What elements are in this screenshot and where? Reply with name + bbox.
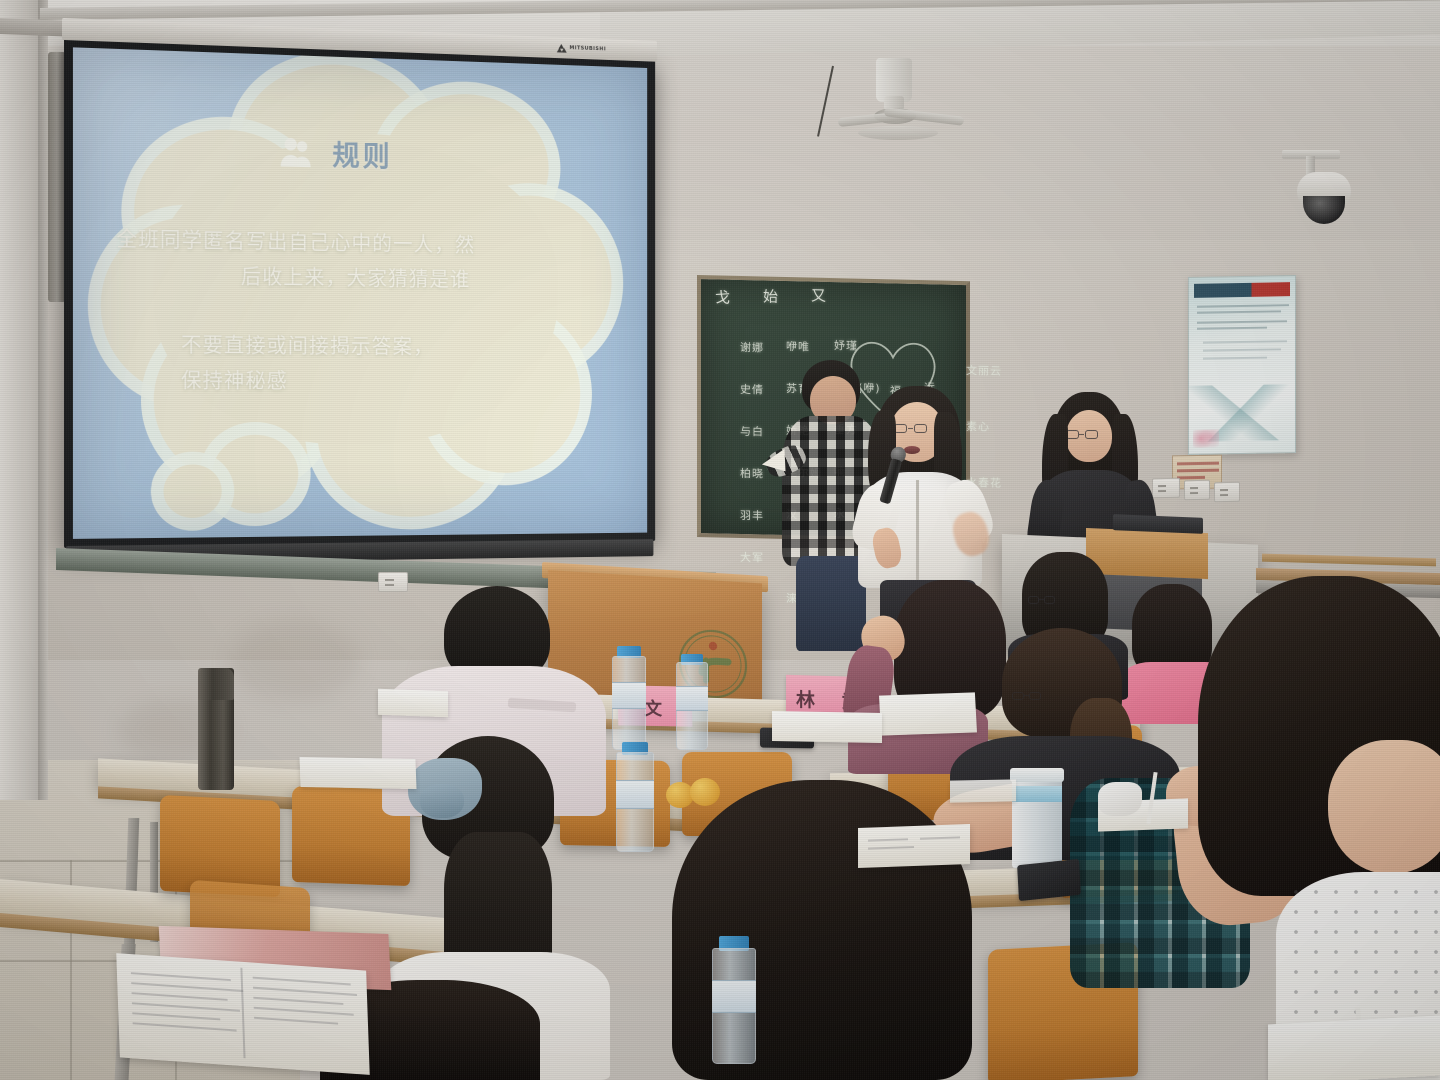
worksheet-paper: [879, 692, 977, 735]
student-white-eyelet: [1180, 576, 1440, 1080]
wall-stain: [230, 620, 360, 700]
orange-fruit: [690, 778, 720, 806]
neck-and-ear: [1328, 740, 1440, 874]
slide-canvas: 规则 全班同学匿名写出自己心中的一人，然 后收上来，大家猜猜是谁 不要直接或间接…: [73, 47, 647, 539]
mitsubishi-brand-text: MITSUBISHI: [569, 45, 606, 52]
eyeglasses-icon: [1028, 596, 1062, 606]
eyeglasses-icon: [1066, 430, 1112, 442]
poster-flower-art: [1193, 429, 1219, 447]
water-bottle[interactable]: [616, 742, 654, 852]
wall-power-socket[interactable]: [1184, 480, 1210, 500]
water-bottle[interactable]: [712, 936, 756, 1064]
water-bottle[interactable]: [612, 646, 646, 750]
people-icon: [279, 135, 315, 169]
wall-poster: [1188, 275, 1296, 455]
ceiling-fan-blade: [858, 126, 938, 140]
worksheet-paper: [772, 711, 882, 743]
chalk-heading-3: 又: [811, 288, 827, 306]
wall-power-socket[interactable]: [1214, 482, 1240, 502]
water-bottle[interactable]: [676, 654, 708, 750]
worksheet-paper: [950, 779, 1016, 802]
slide-body-line-3: 不要直接或间接揭示答案，: [181, 330, 610, 363]
thermos-flask[interactable]: [198, 668, 234, 790]
mitsubishi-logo: MITSUBISHI: [557, 40, 638, 58]
slide-body-line-2: 后收上来，大家猜猜是谁: [116, 260, 586, 296]
chalk-heading-1: 戈: [715, 289, 731, 307]
projection-screen[interactable]: MITSUBISHI: [64, 38, 655, 548]
mitsubishi-mark-icon: [557, 43, 567, 52]
eyeglasses-icon: [1012, 692, 1048, 702]
tissue: [1098, 782, 1142, 816]
wall-pillar-edge: [38, 0, 48, 800]
notebook-page: [1268, 1015, 1440, 1080]
worksheet-paper: [378, 689, 448, 717]
open-book[interactable]: [858, 824, 970, 868]
classroom-photo: MITSUBISHI: [0, 0, 1440, 1080]
chalk-heading-2: 始: [763, 288, 779, 306]
wall-power-socket[interactable]: [1152, 478, 1180, 498]
smartphone[interactable]: [1017, 859, 1081, 901]
slide-body-line-4: 保持神秘感: [181, 366, 610, 397]
travel-cup[interactable]: [1012, 768, 1062, 868]
slide-title: 规则: [332, 133, 392, 175]
blouse-placket: [916, 480, 919, 580]
worksheet-paper: [300, 757, 417, 789]
open-book[interactable]: [116, 953, 369, 1075]
poster-header: [1194, 282, 1290, 298]
